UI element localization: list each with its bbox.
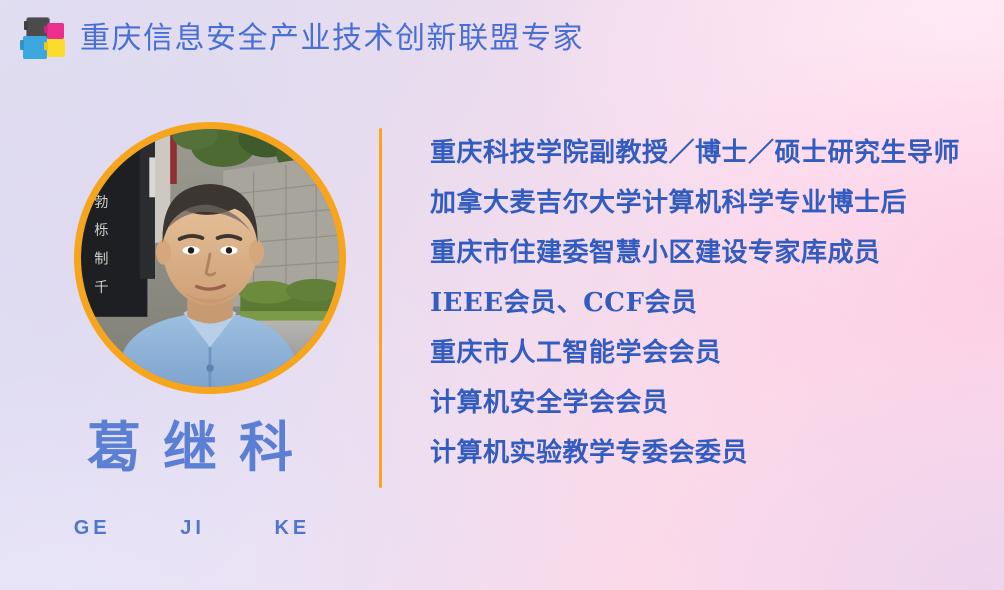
credential-line: IEEE会员、CCF会员 [430,278,990,328]
profile-left-column: 石 勃 栎 制 千 [0,96,380,566]
page-title: 重庆信息安全产业技术创新联盟专家 [80,24,584,54]
credential-line: 加拿大麦吉尔大学计算机科学专业博士后 [430,178,990,228]
svg-text:千: 千 [94,279,108,296]
svg-text:石: 石 [94,166,108,182]
poster-header: 重庆信息安全产业技术创新联盟专家 [0,0,1004,78]
logo-square-magenta-icon [47,23,64,39]
vertical-divider [379,128,382,488]
cmyk-squares-logo-icon [18,17,66,63]
credential-line: 重庆科技学院副教授／博士／硕士研究生导师 [430,128,990,178]
logo-square-yellow-icon [47,39,65,57]
pinyin-syllable-2: JI [180,517,205,539]
credential-line: 计算机实验教学专委会委员 [430,428,990,478]
expert-name-cn: 葛继科 [0,421,380,475]
expert-name-pinyin: GE JI KE [0,518,380,538]
credentials-list: 重庆科技学院副教授／博士／硕士研究生导师 加拿大麦吉尔大学计算机科学专业博士后 … [430,128,990,478]
pinyin-syllable-3: KE [274,517,310,539]
credential-line: 重庆市人工智能学会会员 [430,328,990,378]
svg-text:制: 制 [94,251,108,268]
credential-line: 重庆市住建委智慧小区建设专家库成员 [430,228,990,278]
expert-profile-poster: 重庆信息安全产业技术创新联盟专家 [0,0,1004,590]
svg-text:勃: 勃 [94,194,108,211]
pinyin-syllable-1: GE [74,517,111,539]
credential-line: 计算机安全学会会员 [430,378,990,428]
svg-text:栎: 栎 [94,222,108,239]
avatar: 石 勃 栎 制 千 [74,122,346,394]
